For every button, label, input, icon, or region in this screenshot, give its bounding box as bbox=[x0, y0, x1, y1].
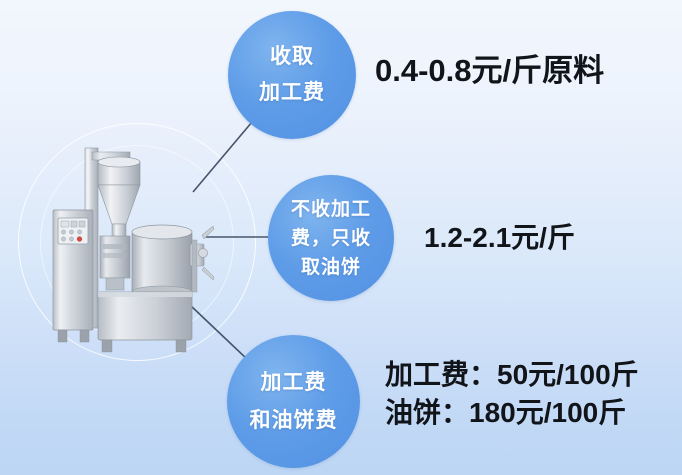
option-bubble-1-line-2: 加工费 bbox=[259, 75, 325, 111]
option-caption-2: 1.2-2.1元/斤 bbox=[424, 216, 575, 256]
option-caption-3-line-1: 加工费：50元/100斤 bbox=[385, 356, 639, 394]
option-bubble-2-line-1: 不收加工 bbox=[291, 195, 371, 224]
option-bubble-1-line-1: 收取 bbox=[270, 39, 314, 75]
option-bubble-1[interactable]: 收取 加工费 bbox=[228, 11, 356, 139]
option-caption-3: 加工费：50元/100斤 油饼：180元/100斤 bbox=[385, 356, 639, 432]
option-bubble-3-line-2: 和油饼费 bbox=[250, 402, 338, 440]
option-bubble-3[interactable]: 加工费 和油饼费 bbox=[227, 335, 360, 468]
oil-press-machine-illustration bbox=[40, 140, 215, 355]
option-bubble-3-line-1: 加工费 bbox=[261, 364, 327, 402]
option-bubble-2-line-3: 取油饼 bbox=[301, 253, 361, 282]
option-bubble-2[interactable]: 不收加工 费，只收 取油饼 bbox=[268, 175, 394, 301]
infographic-canvas: 收取 加工费 不收加工 费，只收 取油饼 加工费 和油饼费 0.4-0.8元/斤… bbox=[0, 0, 682, 475]
option-caption-3-line-2: 油饼：180元/100斤 bbox=[385, 394, 639, 432]
option-caption-1: 0.4-0.8元/斤原料 bbox=[375, 45, 604, 90]
option-bubble-2-line-2: 费，只收 bbox=[291, 224, 371, 253]
